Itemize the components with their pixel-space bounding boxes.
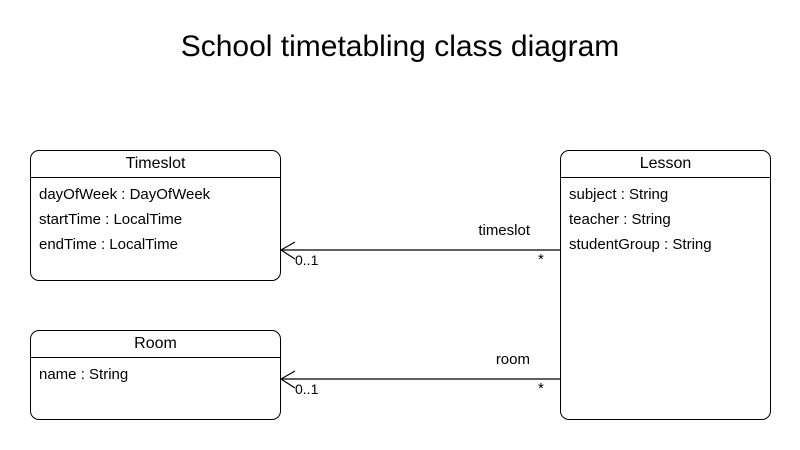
- multiplicity-room-target: 0..1: [295, 381, 318, 397]
- association-lesson-room[interactable]: [0, 0, 800, 450]
- association-line-room: [0, 0, 800, 450]
- association-label-room: room: [400, 351, 530, 369]
- multiplicity-room-source: *: [538, 381, 544, 397]
- class-diagram-canvas: School timetabling class diagram Timeslo…: [0, 0, 800, 450]
